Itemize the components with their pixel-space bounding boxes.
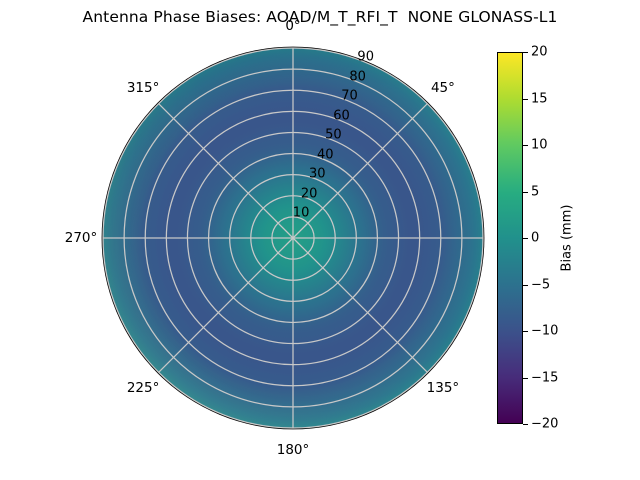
figure-canvas: Antenna Phase Biases: AOAD/M_T_RFI_T NON… bbox=[0, 0, 640, 480]
radial-tick-label-90: 90 bbox=[357, 50, 374, 65]
colorbar-tick-label-15: 15 bbox=[531, 91, 548, 106]
colorbar-tick-5 bbox=[523, 192, 528, 193]
angular-tick-label-45: 45° bbox=[431, 80, 455, 96]
angular-tick-label-315: 315° bbox=[127, 80, 160, 96]
colorbar-gradient bbox=[497, 52, 523, 424]
colorbar-tick-label--15: −15 bbox=[531, 370, 558, 385]
radial-tick-label-40: 40 bbox=[317, 147, 334, 162]
colorbar-tick-label-5: 5 bbox=[531, 184, 539, 199]
angular-tick-label-270: 270° bbox=[65, 230, 98, 246]
angular-tick-label-135: 135° bbox=[427, 380, 460, 396]
polar-grid bbox=[103, 48, 483, 428]
colorbar-tick-label--10: −10 bbox=[531, 324, 558, 339]
colorbar-tick-20 bbox=[523, 52, 528, 53]
colorbar-tick--10 bbox=[523, 331, 528, 332]
grid-spoke-135 bbox=[293, 238, 427, 372]
colorbar-tick-label-0: 0 bbox=[531, 231, 539, 246]
grid-spoke-315 bbox=[159, 104, 293, 238]
colorbar-tick-label-20: 20 bbox=[531, 45, 548, 60]
colorbar-label: Bias (mm) bbox=[560, 205, 575, 272]
colorbar-tick--20 bbox=[523, 424, 528, 425]
radial-tick-label-50: 50 bbox=[325, 128, 342, 143]
colorbar: −20−15−10−505101520 bbox=[497, 52, 523, 424]
angular-tick-label-180: 180° bbox=[277, 442, 310, 458]
radial-tick-label-20: 20 bbox=[301, 186, 318, 201]
colorbar-tick--5 bbox=[523, 285, 528, 286]
colorbar-tick-label--20: −20 bbox=[531, 417, 558, 432]
polar-grid-spokes bbox=[103, 48, 483, 428]
colorbar-tick--15 bbox=[523, 378, 528, 379]
radial-tick-label-70: 70 bbox=[341, 89, 358, 104]
figure-title: Antenna Phase Biases: AOAD/M_T_RFI_T NON… bbox=[0, 8, 640, 26]
grid-spoke-225 bbox=[159, 238, 293, 372]
polar-axes: 0°45°90135°180°225°270°315° 102030405060… bbox=[103, 48, 483, 428]
radial-tick-label-30: 30 bbox=[309, 167, 326, 182]
radial-tick-label-80: 80 bbox=[349, 69, 366, 84]
colorbar-tick-0 bbox=[523, 238, 528, 239]
angular-tick-label-0: 0° bbox=[285, 18, 300, 34]
angular-tick-label-225: 225° bbox=[127, 380, 160, 396]
colorbar-tick-label-10: 10 bbox=[531, 138, 548, 153]
radial-tick-label-60: 60 bbox=[333, 108, 350, 123]
colorbar-tick-10 bbox=[523, 145, 528, 146]
radial-tick-label-10: 10 bbox=[293, 206, 310, 221]
colorbar-tick-15 bbox=[523, 99, 528, 100]
colorbar-tick-label--5: −5 bbox=[531, 277, 550, 292]
